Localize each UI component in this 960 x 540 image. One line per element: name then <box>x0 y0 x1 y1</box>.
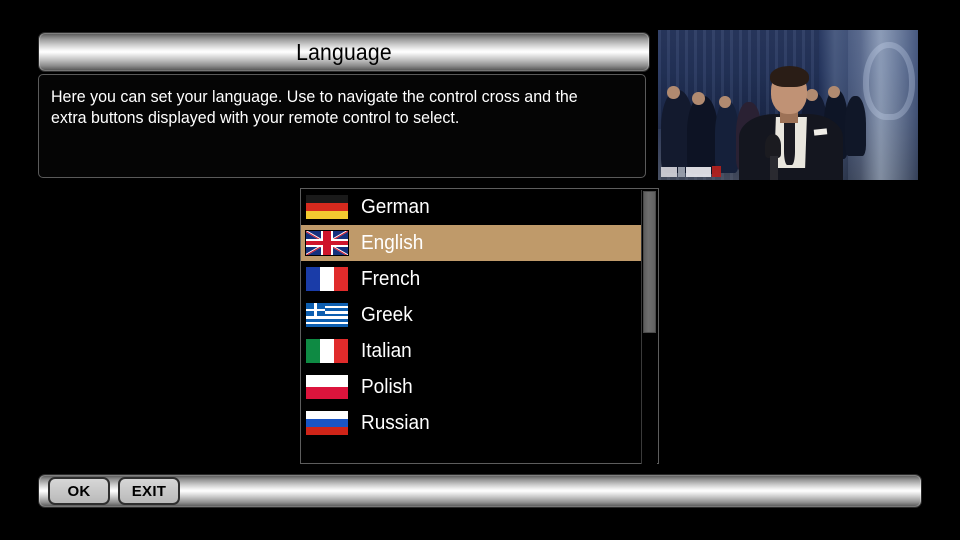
flag-poland-icon <box>305 374 349 400</box>
crowd-silhouette <box>687 96 718 174</box>
list-item-label: English <box>361 232 423 255</box>
list-item-label: French <box>361 268 420 291</box>
list-item-polish[interactable]: Polish <box>301 369 642 405</box>
crowd-head <box>692 92 705 106</box>
list-item-english[interactable]: English <box>301 225 642 261</box>
language-list-panel[interactable]: German English <box>300 188 659 464</box>
page-title-bar: Language <box>38 32 650 72</box>
reporter-hair <box>770 66 809 87</box>
microphone-icon <box>765 134 782 158</box>
watermark-block <box>712 166 721 177</box>
list-item-label: German <box>361 196 430 219</box>
page-title: Language <box>296 39 392 66</box>
footer-bar: OK EXIT <box>38 474 922 508</box>
description-panel: Here you can set your language. Use to n… <box>38 74 646 178</box>
list-item-label: Greek <box>361 304 413 327</box>
crowd-head <box>719 96 730 108</box>
tv-settings-screen: Language Here you can set your language.… <box>0 0 960 540</box>
watermark-block <box>686 167 711 177</box>
broadcaster-watermark <box>661 166 721 177</box>
flag-united-kingdom-icon <box>305 230 349 256</box>
crowd-head <box>667 86 680 100</box>
description-text: Here you can set your language. Use to n… <box>51 87 614 129</box>
watermark-block <box>678 167 685 177</box>
list-item-italian[interactable]: Italian <box>301 333 642 369</box>
flag-france-icon <box>305 266 349 292</box>
list-item-label: Italian <box>361 340 412 363</box>
list-item-german[interactable]: German <box>301 189 642 225</box>
flag-greece-icon <box>305 302 349 328</box>
language-list: German English <box>301 189 642 441</box>
watermark-block <box>661 167 677 177</box>
list-scrollbar[interactable] <box>641 190 657 464</box>
list-item-greek[interactable]: Greek <box>301 297 642 333</box>
list-item-label: Russian <box>361 412 430 435</box>
flag-italy-icon <box>305 338 349 364</box>
flag-russia-icon <box>305 410 349 436</box>
list-item-label: Polish <box>361 376 413 399</box>
crowd-head <box>828 86 839 98</box>
flag-germany-icon <box>305 194 349 220</box>
scrollbar-thumb[interactable] <box>643 191 656 333</box>
reporter-tie <box>784 120 795 165</box>
ok-button[interactable]: OK <box>48 477 110 505</box>
exit-button[interactable]: EXIT <box>118 477 180 505</box>
microphone-handle <box>770 156 778 180</box>
list-item-russian[interactable]: Russian <box>301 405 642 441</box>
crowd-head <box>806 89 817 101</box>
list-item-french[interactable]: French <box>301 261 642 297</box>
crowd-silhouette <box>845 96 866 156</box>
video-preview[interactable] <box>658 30 918 180</box>
